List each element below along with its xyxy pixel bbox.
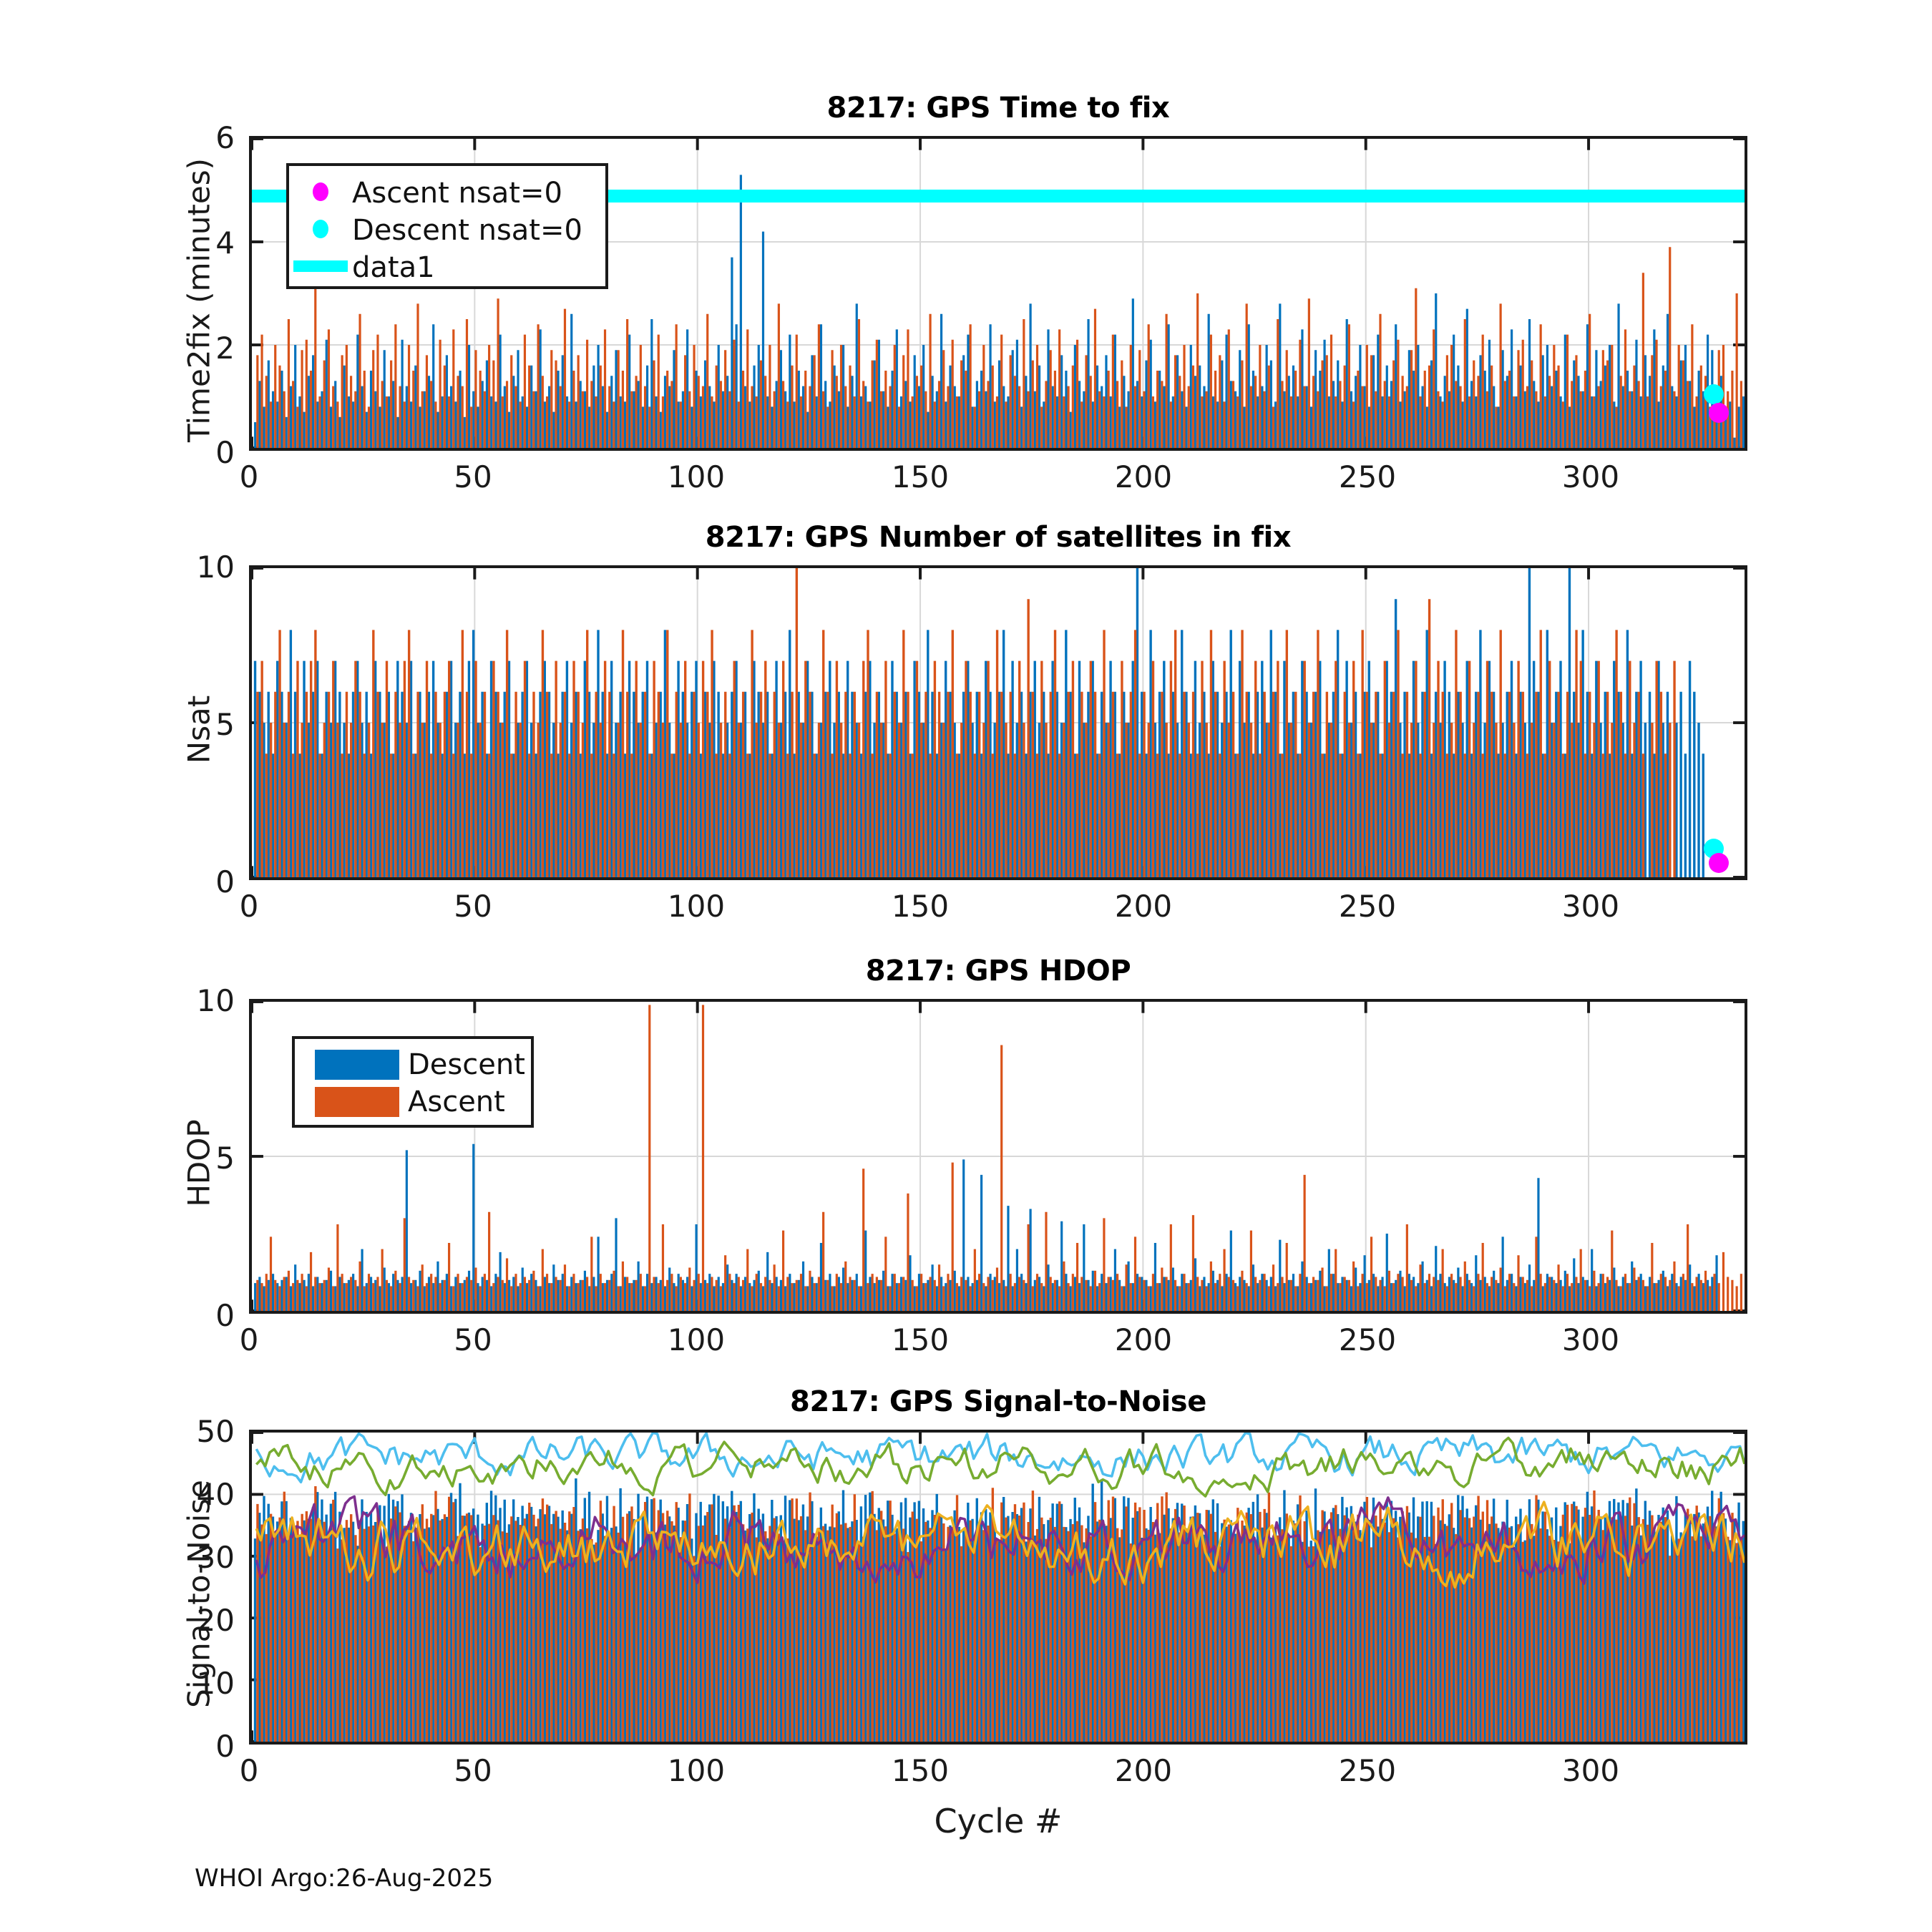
xtick-p1-150: 150 <box>888 459 952 494</box>
xtick-p1-250: 250 <box>1335 459 1400 494</box>
ytick-p4-10: 10 <box>143 1666 235 1701</box>
marker-descent-nsat0 <box>1704 384 1724 404</box>
footer-credit: WHOI Argo:26-Aug-2025 <box>195 1864 493 1893</box>
xtick-p1-50: 50 <box>441 459 505 494</box>
xtick-p3-0: 0 <box>217 1322 281 1357</box>
xtick-p3-200: 200 <box>1111 1322 1176 1357</box>
ytick-p4-20: 20 <box>143 1603 235 1638</box>
ytick-p4-30: 30 <box>143 1540 235 1575</box>
xtick-p2-50: 50 <box>441 889 505 924</box>
legend-dot-ascent-icon <box>289 182 352 204</box>
legend-label-ascent-nsat0: Ascent nsat=0 <box>352 177 562 210</box>
ytick-p1-2: 2 <box>170 331 235 366</box>
legend-line-data1-icon <box>289 260 352 275</box>
xtick-p4-0: 0 <box>217 1753 281 1788</box>
legend-time-to-fix: Ascent nsat=0 Descent nsat=0 data1 <box>286 163 608 289</box>
xtick-p3-250: 250 <box>1335 1322 1400 1357</box>
panel-snr: 8217: GPS Signal-to-Noise Signal-to-Nois… <box>249 1430 1747 1745</box>
xtick-p1-100: 100 <box>664 459 728 494</box>
xtick-p4-150: 150 <box>888 1753 952 1788</box>
legend-hdop: Descent Ascent <box>292 1036 534 1128</box>
y-axis-label-snr: Signal-to-Noise <box>182 1308 217 1880</box>
legend-label-ascent: Ascent <box>408 1085 505 1118</box>
panel-title-nsat: 8217: GPS Number of satellites in fix <box>249 521 1747 554</box>
xtick-p4-250: 250 <box>1335 1753 1400 1788</box>
xtick-p3-150: 150 <box>888 1322 952 1357</box>
panel-title-snr: 8217: GPS Signal-to-Noise <box>249 1385 1747 1418</box>
xtick-p1-300: 300 <box>1558 459 1623 494</box>
panel-time-to-fix: 8217: GPS Time to fix Time2fix (minutes)… <box>249 136 1747 451</box>
legend-label-descent: Descent <box>408 1048 525 1081</box>
legend-dot-descent-icon <box>289 220 352 241</box>
legend-label-data1: data1 <box>352 251 435 284</box>
panel-title-hdop: 8217: GPS HDOP <box>249 955 1747 987</box>
ytick-p2-5: 5 <box>170 707 235 742</box>
xtick-p2-200: 200 <box>1111 889 1176 924</box>
plot-area-nsat <box>249 565 1747 880</box>
marker-ascent-nsat0-p2 <box>1709 853 1729 873</box>
xtick-p2-100: 100 <box>664 889 728 924</box>
ytick-p1-6: 6 <box>170 120 235 155</box>
xtick-p4-300: 300 <box>1558 1753 1623 1788</box>
ytick-p3-5: 5 <box>170 1141 235 1176</box>
x-axis-label-cycle: Cycle # <box>249 1802 1747 1840</box>
marker-ascent-nsat0 <box>1709 403 1729 423</box>
ytick-p1-4: 4 <box>170 225 235 260</box>
ytick-p4-40: 40 <box>143 1477 235 1512</box>
figure-canvas: 8217: GPS Time to fix Time2fix (minutes)… <box>0 0 1932 1932</box>
panel-nsat: 8217: GPS Number of satellites in fix Ns… <box>249 565 1747 880</box>
bars-nsat <box>252 568 1745 877</box>
xtick-p2-250: 250 <box>1335 889 1400 924</box>
ytick-p4-50: 50 <box>143 1414 235 1449</box>
xtick-p3-100: 100 <box>664 1322 728 1357</box>
ytick-p2-10: 10 <box>143 550 235 585</box>
ytick-p3-10: 10 <box>143 983 235 1018</box>
xtick-p3-50: 50 <box>441 1322 505 1357</box>
panel-hdop: 8217: GPS HDOP HDOP Descent Ascent 0 5 1… <box>249 999 1747 1314</box>
legend-label-descent-nsat0: Descent nsat=0 <box>352 214 582 247</box>
plot-area-snr <box>249 1430 1747 1745</box>
panel-title-time-to-fix: 8217: GPS Time to fix <box>249 92 1747 125</box>
xtick-p4-200: 200 <box>1111 1753 1176 1788</box>
xtick-p4-50: 50 <box>441 1753 505 1788</box>
bars-and-lines-snr <box>252 1433 1745 1742</box>
legend-patch-ascent-icon <box>315 1087 399 1117</box>
xtick-p2-150: 150 <box>888 889 952 924</box>
legend-patch-descent-icon <box>315 1050 399 1080</box>
xtick-p2-300: 300 <box>1558 889 1623 924</box>
xtick-p3-300: 300 <box>1558 1322 1623 1357</box>
xtick-p4-100: 100 <box>664 1753 728 1788</box>
xtick-p2-0: 0 <box>217 889 281 924</box>
xtick-p1-0: 0 <box>217 459 281 494</box>
xtick-p1-200: 200 <box>1111 459 1176 494</box>
